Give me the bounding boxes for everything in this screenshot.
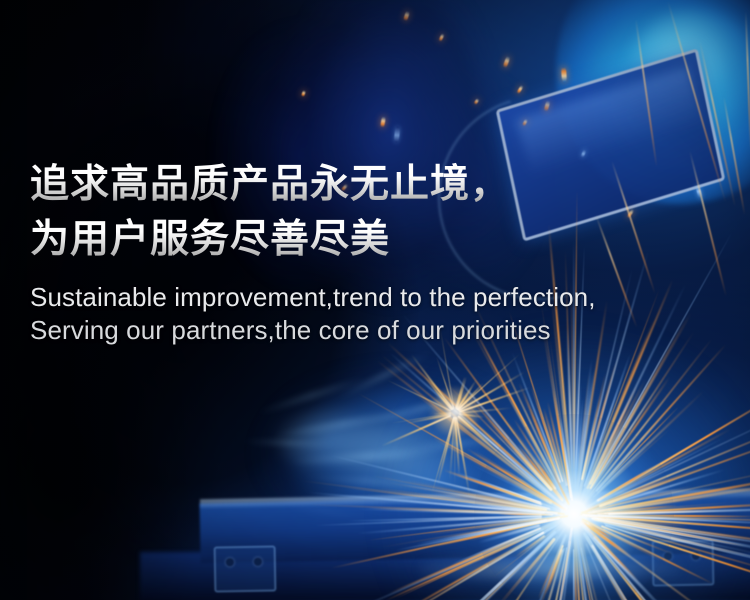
spark-ray [591, 544, 618, 587]
subheadline-line-2: Serving our partners,the core of our pri… [30, 314, 720, 347]
secondary-arc [429, 386, 481, 438]
headline-line-1: 追求高品质产品永无止境， [30, 157, 720, 212]
spark-ray [589, 379, 647, 486]
spark-ray [586, 394, 633, 489]
headline-line-2: 为用户服务尽善尽美 [30, 212, 720, 267]
spark-ray [589, 422, 630, 489]
banner-text-block: 追求高品质产品永无止境， 为用户服务尽善尽美 Sustainable impro… [30, 157, 720, 347]
welding-hero-banner: 追求高品质产品永无止境， 为用户服务尽善尽美 Sustainable impro… [0, 0, 750, 600]
subheadline-line-1: Sustainable improvement,trend to the per… [30, 281, 720, 314]
